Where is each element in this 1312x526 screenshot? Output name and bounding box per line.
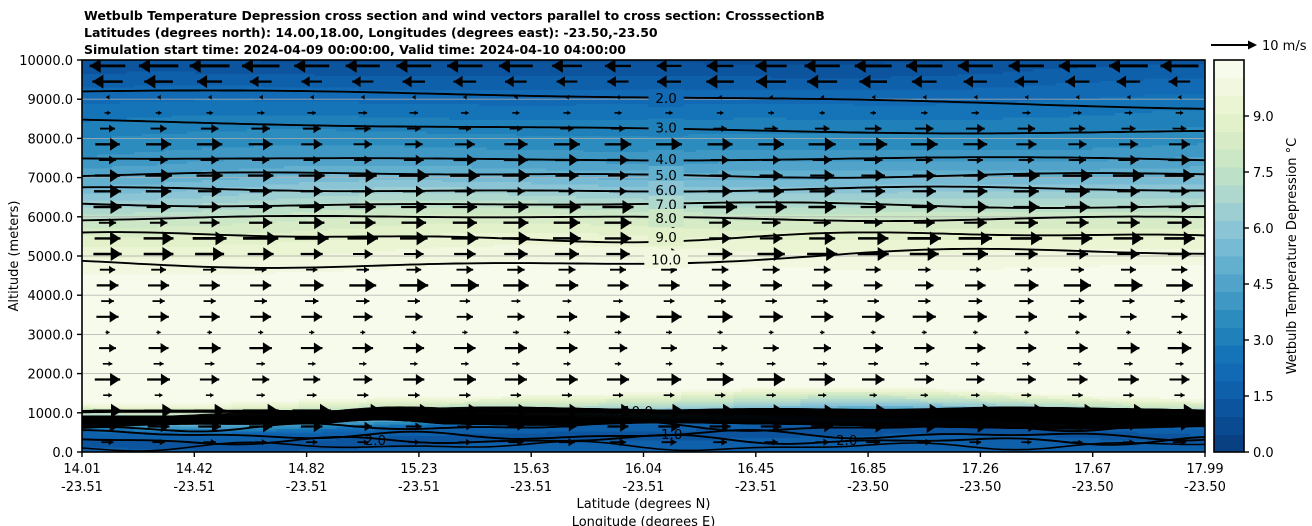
colorbar-tick-label: 9.0 xyxy=(1253,110,1274,125)
y-axis-tick-label: 6000.0 xyxy=(28,211,74,226)
colorbar-swatch xyxy=(1214,78,1244,96)
cross-section-plot: 2.03.04.05.06.07.08.09.010.010.01.02.02.… xyxy=(0,0,1312,526)
x-axis-latitude-tick-label: 17.99 xyxy=(1186,462,1223,477)
contour-label-low-1.0: 1.0 xyxy=(661,427,682,443)
colorbar-tick-label: 4.5 xyxy=(1253,278,1274,293)
contour-label-low-10.0: 10.0 xyxy=(623,404,653,420)
contour-label-4.0: 4.0 xyxy=(655,152,676,168)
colorbar: 0.01.53.04.56.07.59.0Wetbulb Temperature… xyxy=(1214,60,1300,461)
colorbar-tick-label: 7.5 xyxy=(1253,166,1274,181)
x-axis-latitude-tick-label: 14.42 xyxy=(176,462,213,477)
colorbar-swatch xyxy=(1214,149,1244,167)
colorbar-swatch xyxy=(1214,220,1244,238)
contour-label-8.0: 8.0 xyxy=(655,211,676,227)
contour-label-low-2.0: 2.0 xyxy=(365,433,386,449)
colorbar-swatch xyxy=(1214,113,1244,131)
x-axis-latitude-tick-label: 16.04 xyxy=(625,462,662,477)
y-axis-label: Altitude (meters) xyxy=(7,201,22,312)
x-axis-latitude-tick-label: 15.23 xyxy=(400,462,437,477)
colorbar-tick-label: 6.0 xyxy=(1253,222,1274,237)
y-axis-tick-label: 5000.0 xyxy=(28,250,74,265)
x-axis-longitude-tick-label: -23.50 xyxy=(1072,480,1114,495)
colorbar-swatch xyxy=(1214,274,1244,292)
y-axis-tick-label: 7000.0 xyxy=(28,172,74,187)
wind-key: 10 m/s xyxy=(1211,39,1307,54)
x-axis-longitude-tick-label: -23.50 xyxy=(847,480,889,495)
x-axis-longitude-tick-label: -23.51 xyxy=(510,480,552,495)
contour-label-10.0: 10.0 xyxy=(651,252,681,268)
x-axis-latitude-tick-label: 15.63 xyxy=(513,462,550,477)
colorbar-swatch xyxy=(1214,434,1244,452)
colorbar-swatch xyxy=(1214,309,1244,327)
colorbar-swatch xyxy=(1214,185,1244,203)
x-axis-longitude-tick-label: -23.50 xyxy=(959,480,1001,495)
contour-label-low-2.0: 2.0 xyxy=(836,433,857,449)
colorbar-swatch xyxy=(1214,60,1244,78)
x-axis-longitude-tick-label: -23.51 xyxy=(623,480,665,495)
x-axis-latitude-tick-label: 17.26 xyxy=(962,462,999,477)
y-axis-tick-label: 1000.0 xyxy=(28,407,74,422)
colorbar-label: Wetbulb Temperature Depression °C xyxy=(1285,138,1300,375)
colorbar-tick-label: 1.5 xyxy=(1253,390,1274,405)
colorbar-swatch xyxy=(1214,416,1244,434)
x-axis-longitude-tick-label: -23.50 xyxy=(1184,480,1226,495)
contour-label-9.0: 9.0 xyxy=(655,230,676,246)
colorbar-tick-label: 0.0 xyxy=(1253,446,1274,461)
colorbar-swatch xyxy=(1214,292,1244,310)
y-axis-tick-label: 2000.0 xyxy=(28,368,74,383)
colorbar-swatch xyxy=(1214,327,1244,345)
wind-key-label: 10 m/s xyxy=(1262,39,1307,54)
colorbar-swatch xyxy=(1214,131,1244,149)
x-axis-latitude-tick-label: 16.45 xyxy=(737,462,774,477)
x-axis-label-longitude: Longitude (degrees E) xyxy=(572,515,716,526)
contour-label-3.0: 3.0 xyxy=(655,121,676,137)
y-axis-tick-label: 4000.0 xyxy=(28,289,74,304)
y-axis-tick-label: 10000.0 xyxy=(19,54,73,69)
x-axis-label-latitude: Latitude (degrees N) xyxy=(577,497,711,512)
right-arrow-icon xyxy=(1248,41,1257,50)
y-axis-tick-label: 0.0 xyxy=(52,446,73,461)
colorbar-swatch xyxy=(1214,381,1244,399)
contour-label-2.0: 2.0 xyxy=(655,91,676,107)
x-axis-latitude-tick-label: 17.67 xyxy=(1074,462,1111,477)
x-axis-latitude-tick-label: 14.01 xyxy=(63,462,100,477)
x-axis-longitude-tick-label: -23.51 xyxy=(61,480,103,495)
x-axis-longitude-tick-label: -23.51 xyxy=(398,480,440,495)
x-axis-latitude-tick-label: 14.82 xyxy=(288,462,325,477)
colorbar-swatch xyxy=(1214,363,1244,381)
colorbar-swatch xyxy=(1214,96,1244,114)
y-axis-tick-label: 3000.0 xyxy=(28,328,74,343)
colorbar-swatch xyxy=(1214,203,1244,221)
colorbar-swatch xyxy=(1214,256,1244,274)
x-axis-latitude-tick-label: 16.85 xyxy=(849,462,886,477)
y-axis-tick-label: 9000.0 xyxy=(28,93,74,108)
y-axis-tick-label: 8000.0 xyxy=(28,132,74,147)
colorbar-swatch xyxy=(1214,345,1244,363)
colorbar-swatch xyxy=(1214,238,1244,256)
x-axis-longitude-tick-label: -23.51 xyxy=(173,480,215,495)
x-axis-longitude-tick-label: -23.51 xyxy=(286,480,328,495)
colorbar-swatch xyxy=(1214,167,1244,185)
x-axis-longitude-tick-label: -23.51 xyxy=(735,480,777,495)
colorbar-swatch xyxy=(1214,399,1244,417)
colorbar-tick-label: 3.0 xyxy=(1253,334,1274,349)
figure-root: Wetbulb Temperature Depression cross sec… xyxy=(0,0,1312,526)
